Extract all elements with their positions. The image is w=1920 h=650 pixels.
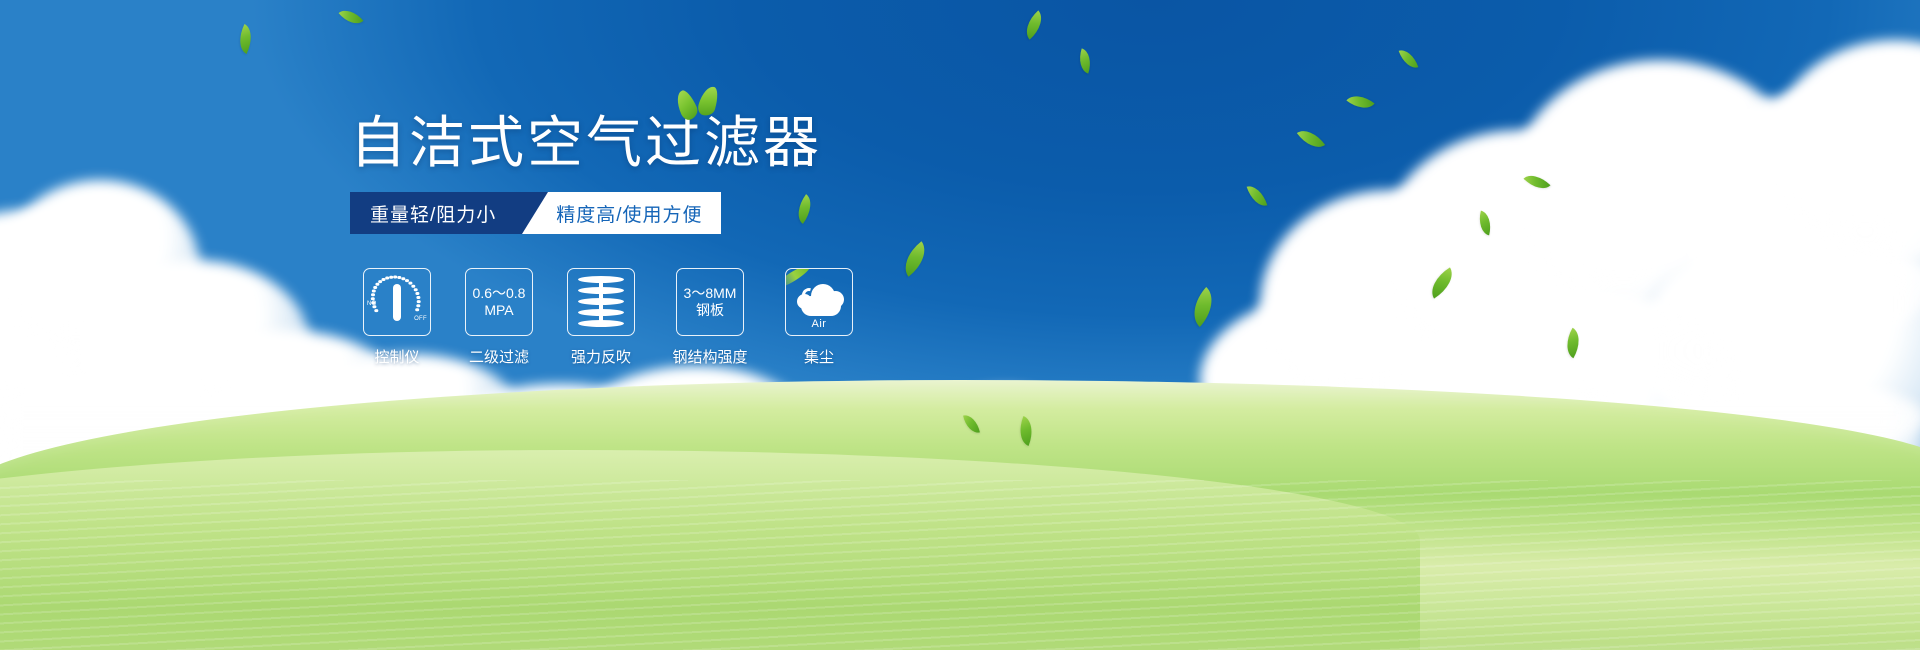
feature-label: 控制仪	[374, 346, 419, 367]
pressure-value-line2: MPA	[484, 302, 513, 319]
gauge-off-label: OFF	[414, 316, 427, 322]
feature-label: 二级过滤	[469, 346, 529, 367]
feature-icon-box: NO OFF	[363, 268, 431, 336]
gauge-on-label: NO	[367, 301, 377, 307]
feature-label: 钢结构强度	[672, 346, 747, 367]
air-cloud-icon: Air	[791, 278, 847, 326]
pressure-value-line1: 0.6～0.8	[473, 285, 526, 302]
gauge-needle-icon	[393, 284, 401, 321]
feature-icon-box	[567, 268, 635, 336]
product-hero-banner: 自洁式空气过滤器 重量轻/阻力小 精度高/使用方便	[0, 0, 1920, 650]
feature-icon-box: Air	[785, 268, 853, 336]
steel-value-line2: 钢板	[696, 302, 724, 319]
gauge-icon: NO OFF	[367, 274, 427, 330]
tagline-badge-left: 重量轻/阻力小	[350, 192, 522, 234]
filter-coil-icon	[578, 274, 624, 330]
feature-item-dust[interactable]: Air 集尘	[780, 268, 858, 367]
banner-content: 自洁式空气过滤器 重量轻/阻力小 精度高/使用方便	[0, 0, 1920, 650]
feature-icon-box: 0.6～0.8 MPA	[465, 268, 533, 336]
steel-value-line1: 3～8MM	[684, 285, 737, 302]
feature-label: 强力反吹	[571, 346, 631, 367]
air-label: Air	[791, 318, 847, 330]
feature-item-steel[interactable]: 3～8MM 钢板 钢结构强度	[664, 268, 756, 367]
feature-item-backflush[interactable]: 强力反吹	[562, 268, 640, 367]
feature-item-controller[interactable]: NO OFF 控制仪	[358, 268, 436, 367]
feature-item-pressure[interactable]: 0.6～0.8 MPA 二级过滤	[460, 268, 538, 367]
feature-label: 集尘	[804, 346, 834, 367]
tagline-badge: 重量轻/阻力小 精度高/使用方便	[350, 192, 721, 234]
feature-icon-box: 3～8MM 钢板	[676, 268, 744, 336]
tagline-badge-divider	[522, 192, 548, 234]
tagline-badge-right: 精度高/使用方便	[548, 192, 720, 234]
feature-icon-row: NO OFF 控制仪 0.6～0.8 MPA 二级过滤	[358, 268, 858, 367]
page-title: 自洁式空气过滤器	[350, 112, 822, 174]
title-leaf-decoration-icon	[676, 84, 722, 120]
